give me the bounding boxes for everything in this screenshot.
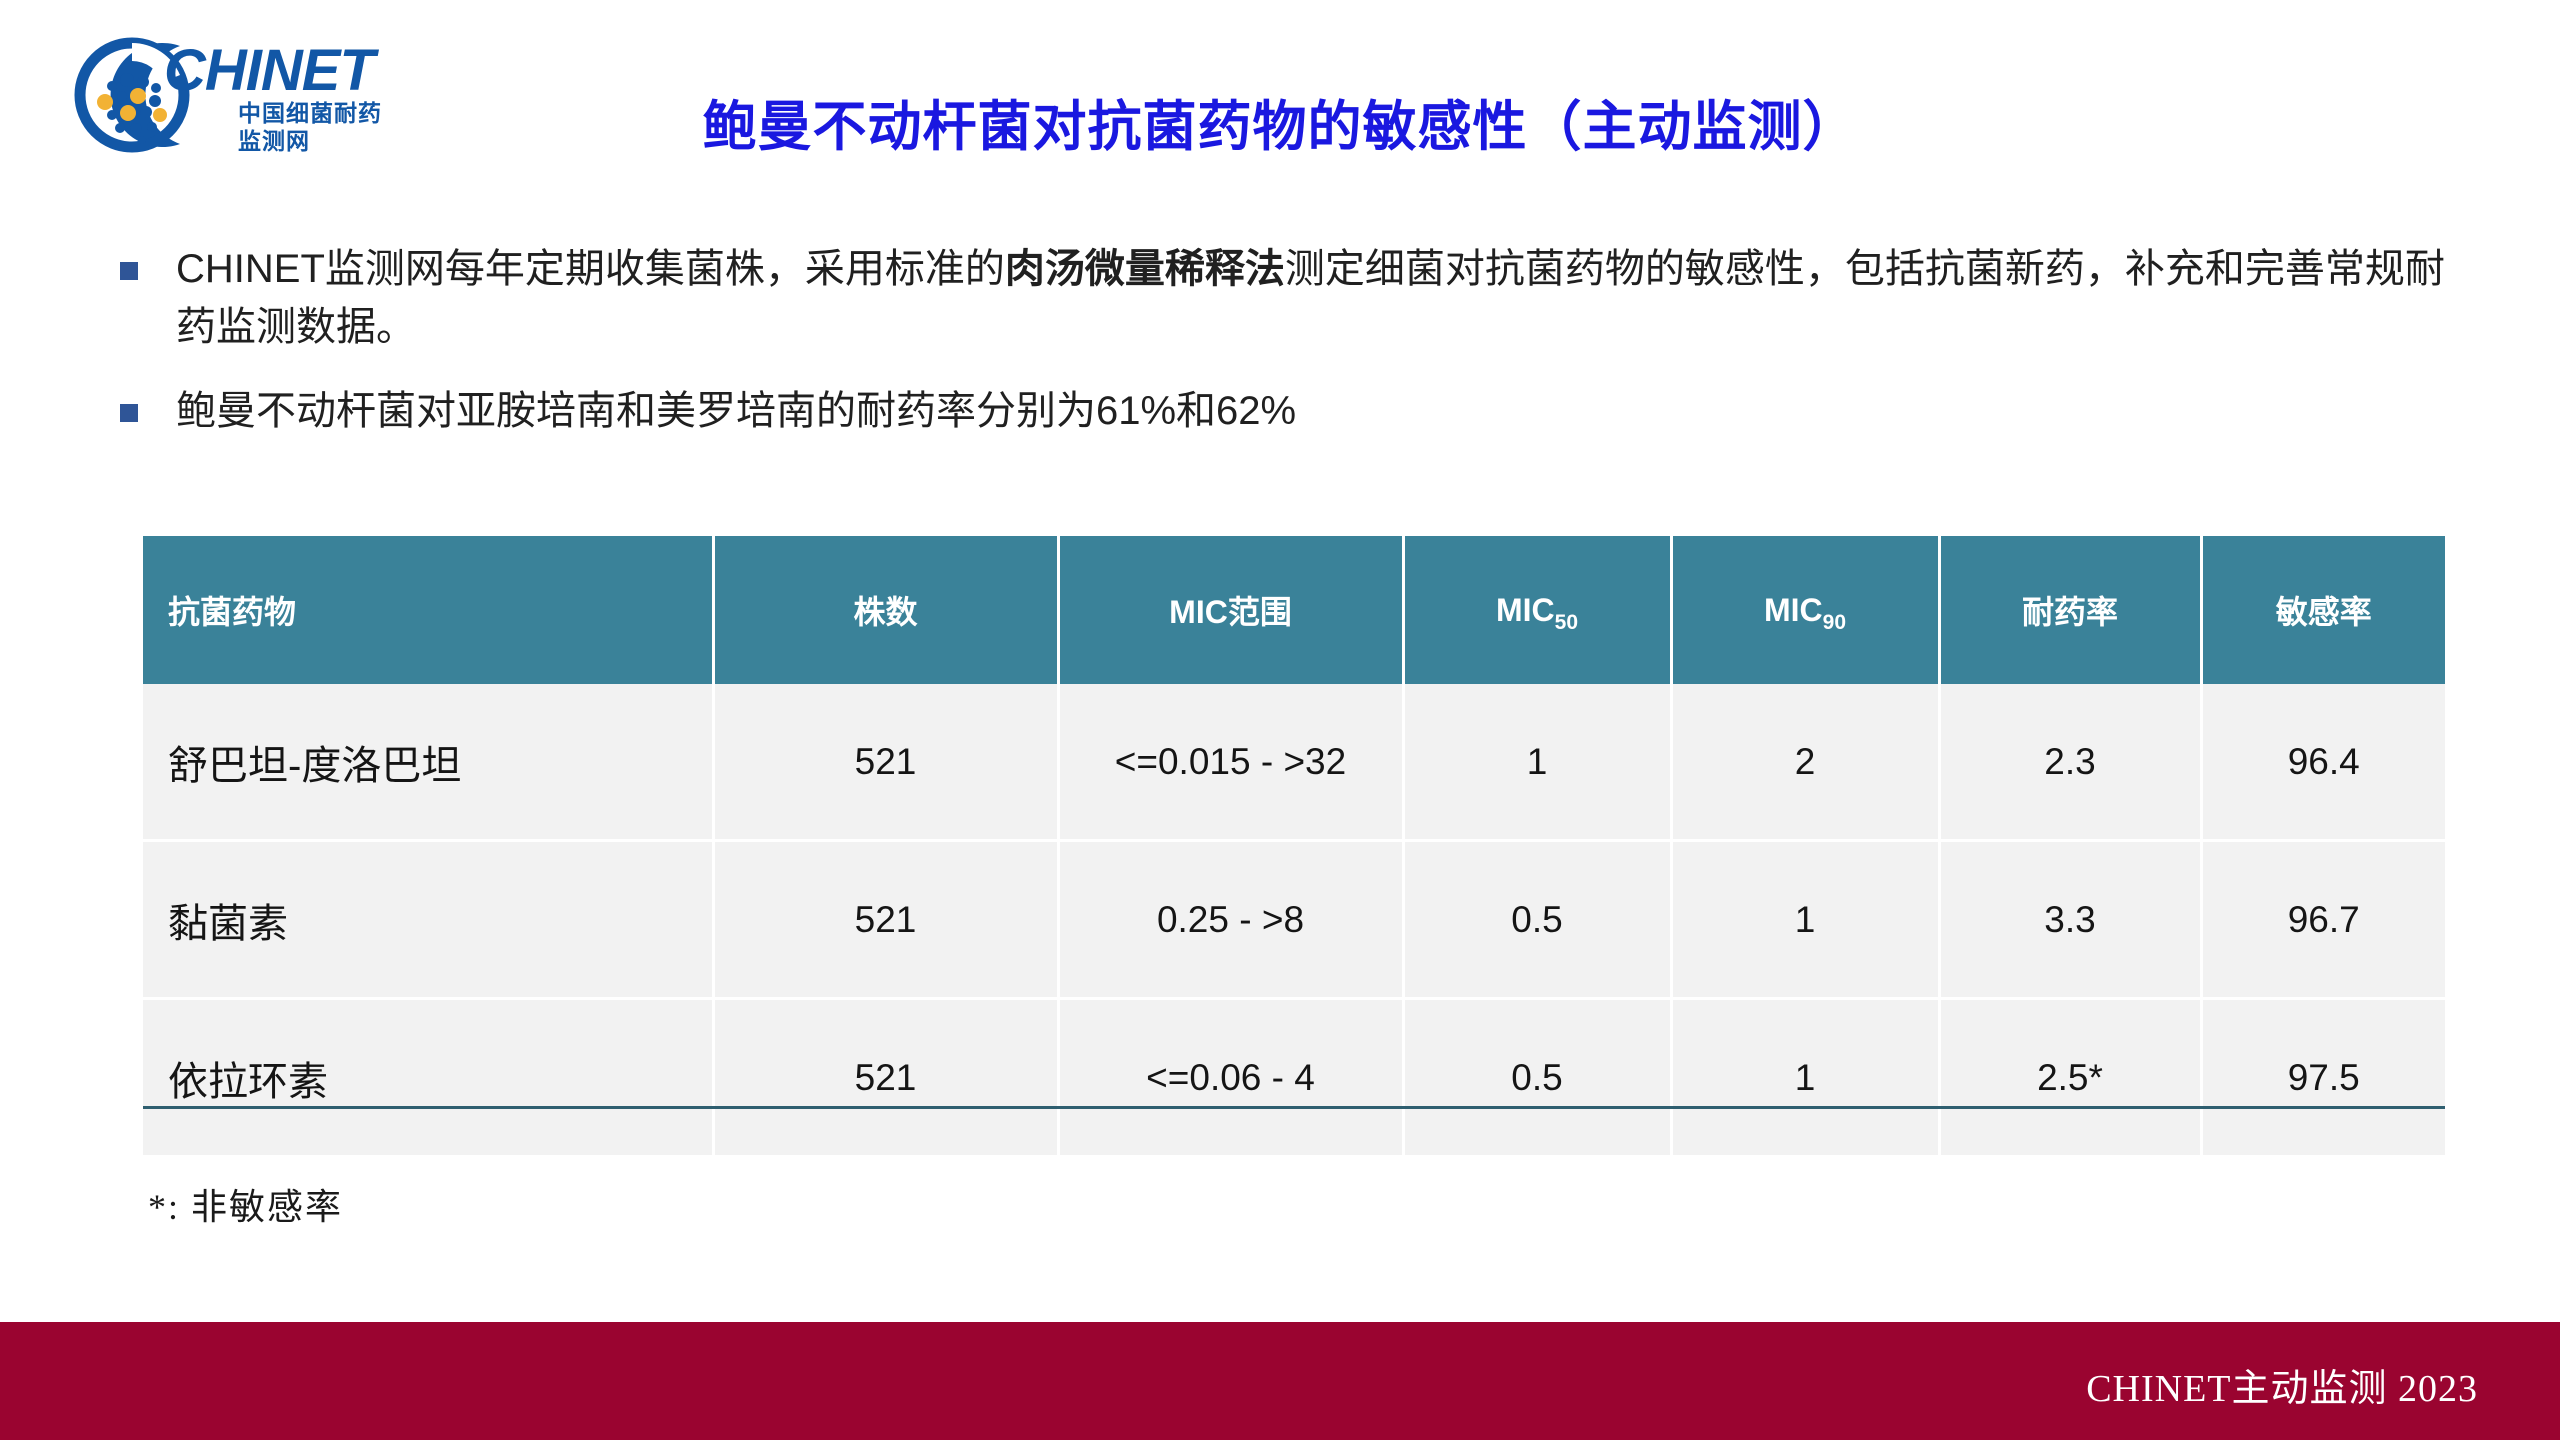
cell-mic50: 0.5 [1403,841,1671,999]
table-row: 舒巴坦-度洛巴坦 521 <=0.015 - >32 1 2 2.3 96.4 [143,684,2445,841]
cell-mic-range: <=0.06 - 4 [1058,999,1403,1156]
column-header-drug: 抗菌药物 [143,536,713,684]
mic90-label: MIC [1764,592,1823,628]
column-header-resistance: 耐药率 [1939,536,2201,684]
bullet-item: CHINET监测网每年定期收集菌株，采用标准的肉汤微量稀释法测定细菌对抗菌药物的… [120,240,2450,356]
cell-resistance: 2.5* [1939,999,2201,1156]
bullet-list: CHINET监测网每年定期收集菌株，采用标准的肉汤微量稀释法测定细菌对抗菌药物的… [120,240,2450,466]
bullet-1-part1: CHINET监测网每年定期收集菌株，采用标准的 [176,247,1005,291]
slide-title: 鲍曼不动杆菌对抗菌药物的敏感性（主动监测） [0,82,2560,161]
cell-resistance: 3.3 [1939,841,2201,999]
cell-mic90: 1 [1671,841,1939,999]
cell-drug: 舒巴坦-度洛巴坦 [143,684,713,841]
footer-text: CHINET主动监测 2023 [2086,1357,2478,1412]
cell-mic-range: 0.25 - >8 [1058,841,1403,999]
mic50-subscript: 50 [1555,611,1578,634]
column-header-susceptibility: 敏感率 [2201,536,2445,684]
cell-susceptibility: 97.5 [2201,999,2445,1156]
bullet-marker-icon [120,262,138,280]
cell-count: 521 [713,841,1058,999]
cell-mic90: 1 [1671,999,1939,1156]
cell-count: 521 [713,999,1058,1156]
susceptibility-table: 抗菌药物 株数 MIC范围 MIC50 MIC90 耐药率 敏感率 舒巴坦-度洛… [143,536,2445,1155]
mic50-label: MIC [1496,592,1555,628]
table-row: 黏菌素 521 0.25 - >8 0.5 1 3.3 96.7 [143,841,2445,999]
bullet-1-bold: 肉汤微量稀释法 [1005,247,1285,291]
table-header-row: 抗菌药物 株数 MIC范围 MIC50 MIC90 耐药率 敏感率 [143,536,2445,684]
footnote: *: 非敏感率 [148,1178,343,1230]
table-row: 依拉环素 521 <=0.06 - 4 0.5 1 2.5* 97.5 [143,999,2445,1156]
cell-resistance: 2.3 [1939,684,2201,841]
column-header-count: 株数 [713,536,1058,684]
column-header-mic50: MIC50 [1403,536,1671,684]
cell-mic-range: <=0.015 - >32 [1058,684,1403,841]
column-header-mic90: MIC90 [1671,536,1939,684]
bullet-text: 鲍曼不动杆菌对亚胺培南和美罗培南的耐药率分别为61%和62% [176,382,2450,440]
bullet-marker-icon [120,404,138,422]
bullet-item: 鲍曼不动杆菌对亚胺培南和美罗培南的耐药率分别为61%和62% [120,382,2450,440]
cell-susceptibility: 96.7 [2201,841,2445,999]
cell-drug: 依拉环素 [143,999,713,1156]
table-bottom-rule [143,1106,2445,1109]
cell-mic50: 1 [1403,684,1671,841]
cell-mic50: 0.5 [1403,999,1671,1156]
cell-mic90: 2 [1671,684,1939,841]
mic90-subscript: 90 [1823,611,1846,634]
bullet-text: CHINET监测网每年定期收集菌株，采用标准的肉汤微量稀释法测定细菌对抗菌药物的… [176,240,2450,356]
bullet-2-part1: 鲍曼不动杆菌对亚胺培南和美罗培南的耐药率分别为61%和62% [176,389,1296,433]
column-header-mic-range: MIC范围 [1058,536,1403,684]
cell-susceptibility: 96.4 [2201,684,2445,841]
cell-drug: 黏菌素 [143,841,713,999]
cell-count: 521 [713,684,1058,841]
